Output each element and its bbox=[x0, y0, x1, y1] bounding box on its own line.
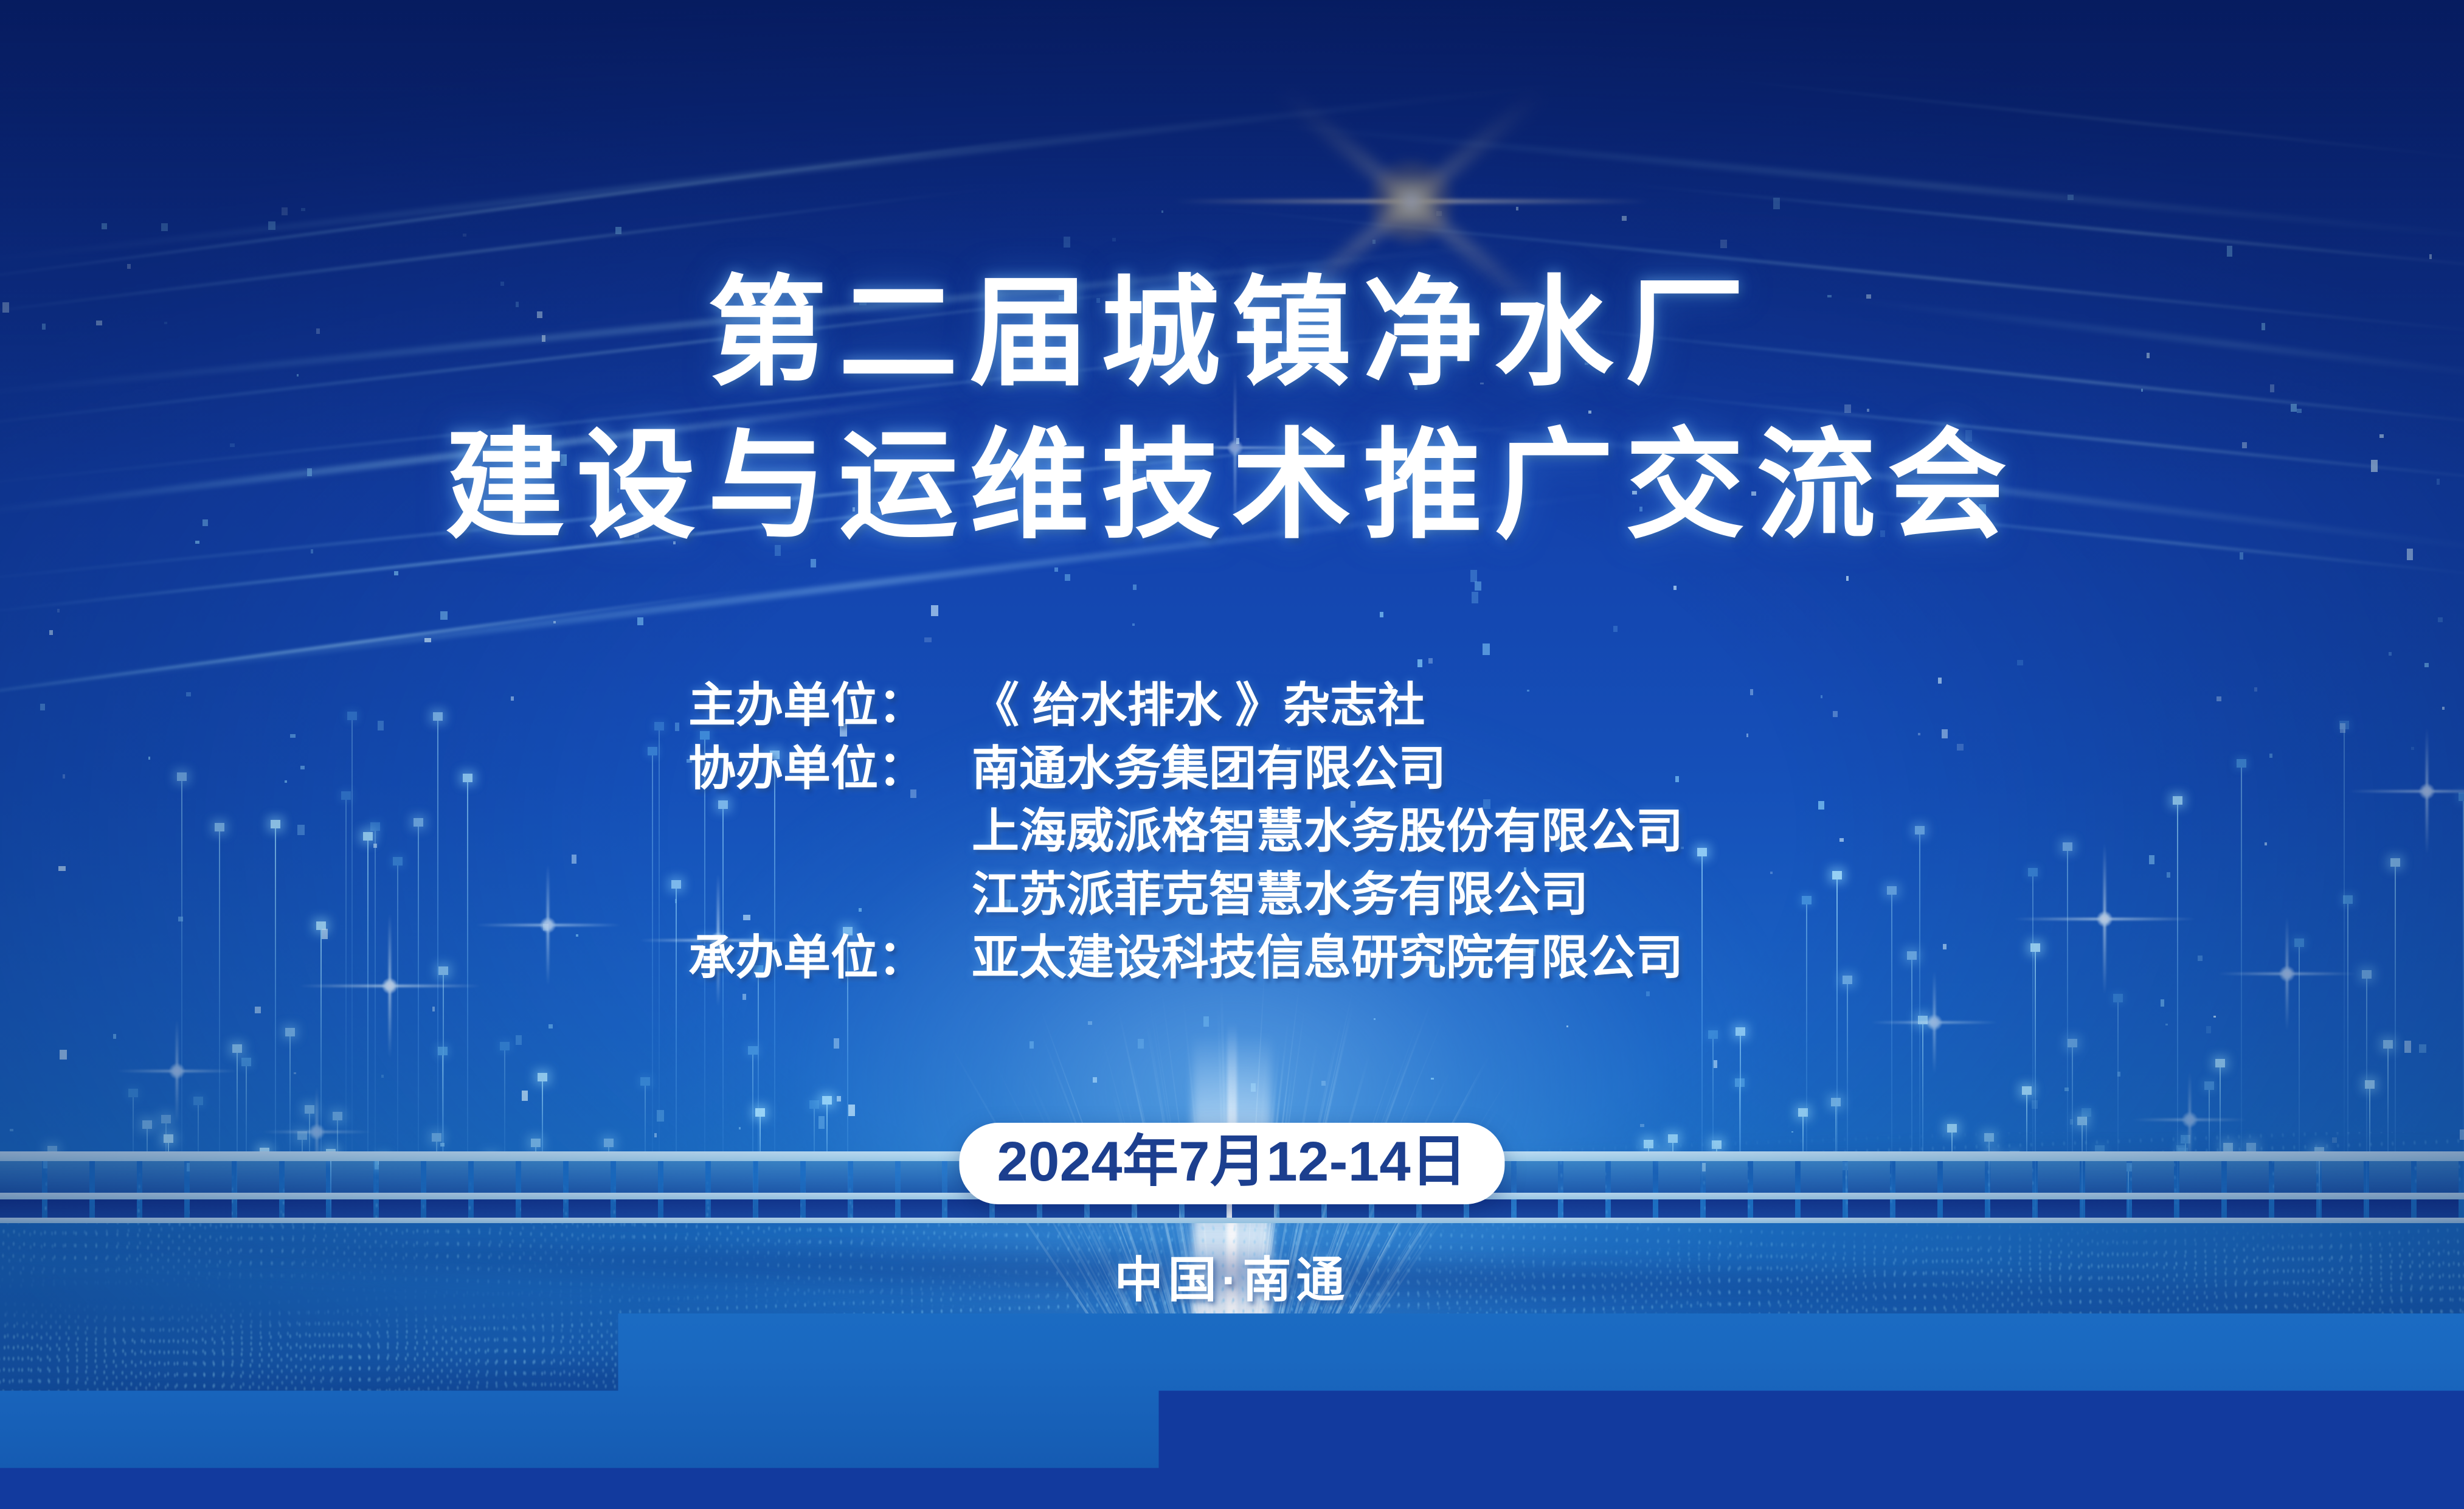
title-line-1: 第二届城镇净水厂 bbox=[0, 262, 2464, 404]
poster-content: 第二届城镇净水厂 建设与运维技术推广交流会 主办单位：《 给水排水 》杂志社协办… bbox=[0, 0, 2464, 1509]
conference-poster: 第二届城镇净水厂 建设与运维技术推广交流会 主办单位：《 给水排水 》杂志社协办… bbox=[0, 0, 2464, 1509]
organization-row: 协办单位：江苏派菲克智慧水务有限公司 bbox=[688, 863, 1683, 926]
organization-label: 协办单位： bbox=[688, 737, 972, 800]
date-badge: 2024年7月12-14日 bbox=[959, 1123, 1504, 1204]
location-text: 中国·南通 bbox=[1115, 1241, 1350, 1311]
organizations-block: 主办单位：《 给水排水 》杂志社协办单位：南通水务集团有限公司协办单位：上海威派… bbox=[688, 674, 1683, 990]
organization-value: 江苏派菲克智慧水务有限公司 bbox=[972, 863, 1683, 926]
organization-value: 南通水务集团有限公司 bbox=[972, 737, 1683, 800]
organization-label: 承办单位： bbox=[688, 926, 972, 990]
organization-value: 亚太建设科技信息研究院有限公司 bbox=[972, 926, 1683, 990]
organization-row: 承办单位：亚太建设科技信息研究院有限公司 bbox=[688, 926, 1683, 990]
organization-row: 协办单位：上海威派格智慧水务股份有限公司 bbox=[688, 800, 1683, 863]
organization-row: 协办单位：南通水务集团有限公司 bbox=[688, 737, 1683, 800]
poster-title: 第二届城镇净水厂 建设与运维技术推广交流会 bbox=[0, 262, 2464, 557]
organization-row: 主办单位：《 给水排水 》杂志社 bbox=[688, 674, 1683, 737]
organization-label: 主办单位： bbox=[688, 674, 972, 737]
date-badge-text: 2024年7月12-14日 bbox=[997, 1134, 1467, 1190]
organization-value: 《 给水排水 》杂志社 bbox=[972, 674, 1683, 737]
organization-value: 上海威派格智慧水务股份有限公司 bbox=[972, 800, 1683, 863]
title-line-2: 建设与运维技术推广交流会 bbox=[0, 414, 2464, 557]
